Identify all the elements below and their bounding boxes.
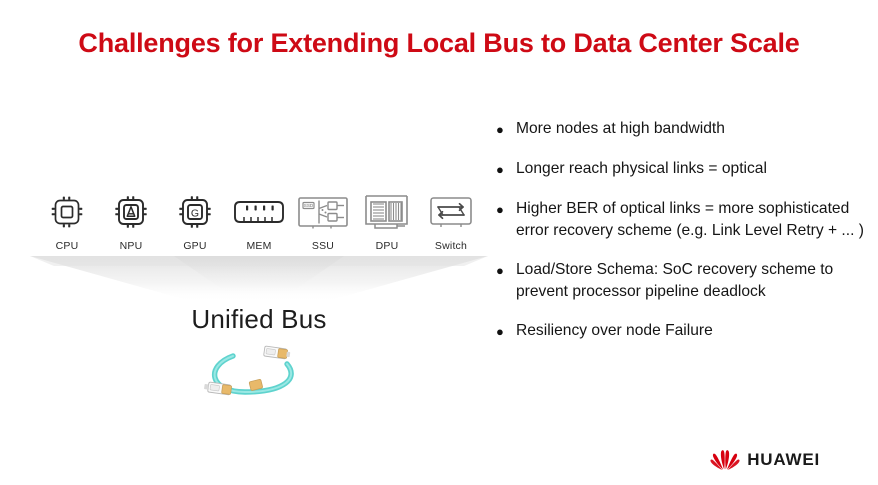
bullet-marker-icon: ● [492, 198, 516, 221]
bullet-text: Resiliency over node Failure [516, 320, 872, 342]
component-label: CPU [56, 240, 79, 252]
component-label: DPU [376, 240, 399, 252]
component-icon-row: CPU [24, 190, 494, 252]
bullet-item: ● Longer reach physical links = optical [492, 158, 872, 181]
ssd-storage-icon: SSD [297, 190, 349, 234]
component-gpu[interactable]: G GPU [166, 190, 224, 252]
component-dpu[interactable]: DPU [358, 190, 416, 252]
optical-cable-figure [24, 342, 494, 404]
bullet-item: ● Load/Store Schema: SoC recovery scheme… [492, 259, 872, 303]
component-label: MEM [246, 240, 271, 252]
bullet-item: ● Higher BER of optical links = more sop… [492, 198, 872, 242]
component-label: GPU [183, 240, 206, 252]
active-optical-cable-icon [203, 342, 315, 404]
challenges-bullet-list: ● More nodes at high bandwidth ● Longer … [492, 118, 872, 360]
unified-bus-diagram: CPU [24, 190, 494, 420]
npu-chip-icon [111, 190, 151, 234]
component-switch[interactable]: Switch [422, 190, 480, 252]
component-label: NPU [120, 240, 143, 252]
gpu-chip-icon: G [175, 190, 215, 234]
bullet-item: ● Resiliency over node Failure [492, 320, 872, 343]
huawei-wordmark: HUAWEI [747, 450, 820, 470]
component-ssu[interactable]: SSD [294, 190, 352, 252]
svg-text:G: G [191, 208, 199, 220]
component-cpu[interactable]: CPU [38, 190, 96, 252]
cpu-chip-icon [47, 190, 87, 234]
huawei-flower-icon [710, 449, 740, 471]
bullet-marker-icon: ● [492, 118, 516, 141]
slide-canvas: Challenges for Extending Local Bus to Da… [0, 0, 878, 485]
page-title: Challenges for Extending Local Bus to Da… [0, 28, 878, 59]
bullet-marker-icon: ● [492, 158, 516, 181]
component-label: SSU [312, 240, 334, 252]
component-mem[interactable]: MEM [230, 190, 288, 252]
memory-module-icon [231, 190, 287, 234]
svg-text:SSD: SSD [304, 203, 314, 208]
dpu-card-icon [361, 190, 413, 234]
bullet-text: Higher BER of optical links = more sophi… [516, 198, 872, 242]
component-npu[interactable]: NPU [102, 190, 160, 252]
bullet-text: Longer reach physical links = optical [516, 158, 872, 180]
bullet-marker-icon: ● [492, 259, 516, 282]
unified-bus-label: Unified Bus [24, 304, 494, 335]
bullet-text: Load/Store Schema: SoC recovery scheme t… [516, 259, 872, 303]
component-label: Switch [435, 240, 467, 252]
bullet-text: More nodes at high bandwidth [516, 118, 872, 140]
huawei-logo: HUAWEI [710, 449, 820, 471]
bullet-marker-icon: ● [492, 320, 516, 343]
bullet-item: ● More nodes at high bandwidth [492, 118, 872, 141]
switch-arrows-icon [427, 190, 475, 234]
